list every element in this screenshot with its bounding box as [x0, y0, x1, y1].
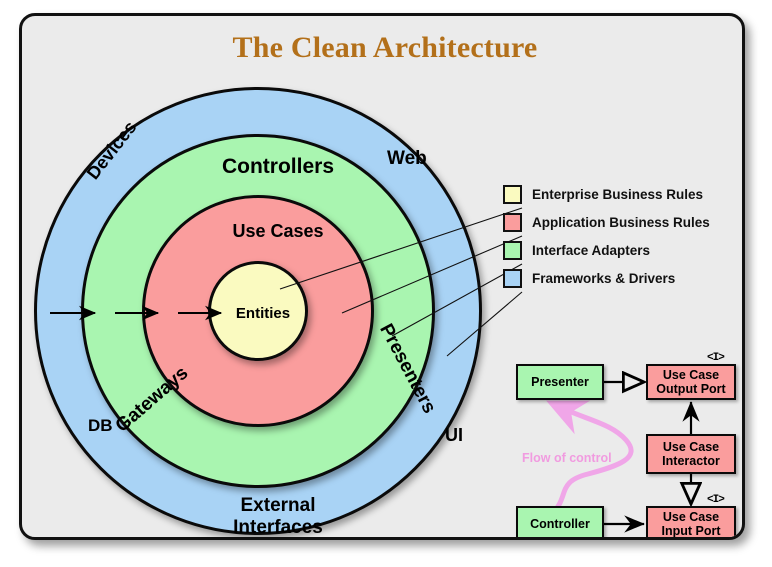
flow-of-control-diagram: Presenter Use Case Output Port <I> Use C… — [492, 346, 745, 540]
ring-label-entities: Entities — [213, 305, 313, 322]
interface-marker-icon-output-port: <I> — [707, 352, 724, 364]
flow-of-control-label: Flow of control — [522, 451, 612, 465]
legend-item-interface-adapters[interactable]: Interface Adapters — [503, 236, 743, 264]
flow-box-controller[interactable]: Controller — [516, 506, 604, 540]
flow-box-interactor-label: Use Case Interactor — [662, 440, 720, 468]
color-swatch-icon-application — [503, 213, 522, 232]
legend: Enterprise Business Rules Application Bu… — [503, 180, 743, 292]
interactor-line-2: Interactor — [662, 454, 720, 468]
legend-label-frameworks: Frameworks & Drivers — [532, 271, 675, 286]
screenshot-root: The Clean Architecture Controllers Use C… — [0, 0, 772, 567]
color-swatch-icon-adapters — [503, 241, 522, 260]
color-swatch-icon-frameworks — [503, 269, 522, 288]
external-interfaces-line-1: External — [22, 495, 534, 517]
flow-box-presenter-label: Presenter — [531, 375, 589, 389]
flow-box-presenter[interactable]: Presenter — [516, 364, 604, 400]
interface-marker-icon-input-port: <I> — [707, 494, 724, 506]
color-swatch-icon-enterprise — [503, 185, 522, 204]
page-title: The Clean Architecture — [22, 31, 745, 65]
output-port-line-2: Output Port — [656, 382, 725, 396]
external-interfaces-line-2: Interfaces — [22, 517, 534, 539]
output-port-line-1: Use Case — [663, 368, 719, 382]
legend-label-enterprise: Enterprise Business Rules — [532, 187, 703, 202]
legend-item-enterprise-business-rules[interactable]: Enterprise Business Rules — [503, 180, 743, 208]
ring-label-external-interfaces: External Interfaces — [22, 495, 534, 539]
input-port-line-2: Input Port — [661, 524, 720, 538]
interactor-line-1: Use Case — [663, 440, 719, 454]
input-port-line-1: Use Case — [663, 510, 719, 524]
ring-label-db: DB — [88, 416, 113, 436]
legend-label-application: Application Business Rules — [532, 215, 710, 230]
legend-item-application-business-rules[interactable]: Application Business Rules — [503, 208, 743, 236]
ring-label-ui: UI — [445, 425, 463, 446]
flow-box-output-port-label: Use Case Output Port — [656, 368, 725, 396]
diagram-panel: The Clean Architecture Controllers Use C… — [19, 13, 745, 540]
flow-box-input-port-label: Use Case Input Port — [661, 510, 720, 538]
legend-item-frameworks-drivers[interactable]: Frameworks & Drivers — [503, 264, 743, 292]
flow-box-use-case-interactor[interactable]: Use Case Interactor — [646, 434, 736, 474]
ring-label-web: Web — [387, 148, 427, 170]
flow-box-use-case-output-port[interactable]: Use Case Output Port — [646, 364, 736, 400]
flow-box-use-case-input-port[interactable]: Use Case Input Port — [646, 506, 736, 540]
flow-box-controller-label: Controller — [530, 517, 590, 531]
ring-label-use-cases: Use Cases — [22, 221, 534, 242]
legend-label-adapters: Interface Adapters — [532, 243, 650, 258]
